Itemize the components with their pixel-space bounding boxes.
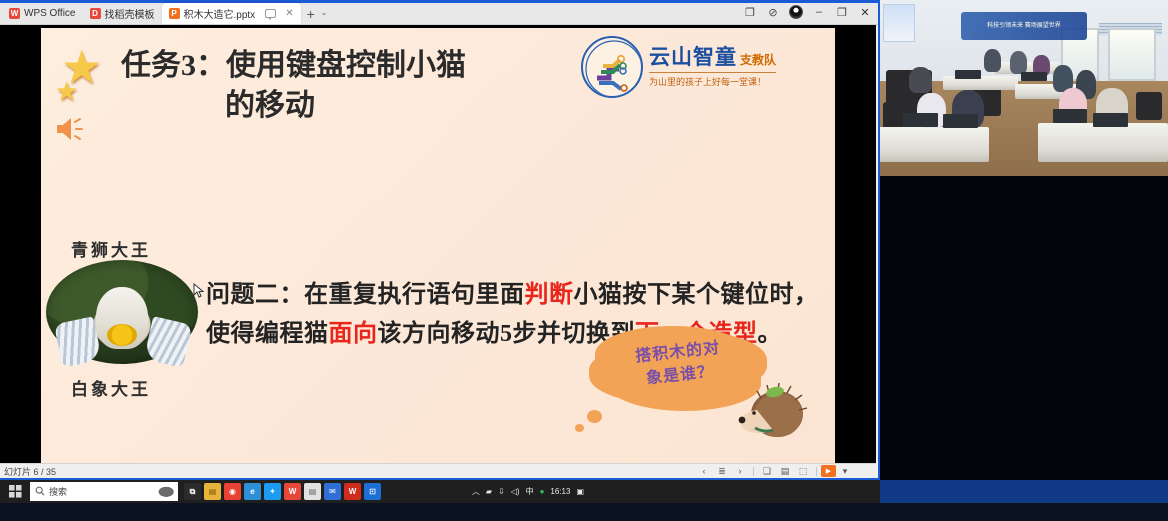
screen-share-icon[interactable]: ⊡ — [364, 483, 381, 500]
tab-presentation-file[interactable]: P 积木大造它.pptx ✕ — [162, 3, 301, 24]
taskbar-secondary-region — [880, 480, 1168, 503]
body-seg-1-highlight: 判断 — [525, 282, 574, 308]
tab-label: 找稻壳模板 — [105, 6, 155, 21]
play-slideshow-button[interactable]: ▶ — [821, 465, 836, 477]
speaker-audio-icon[interactable] — [51, 113, 87, 145]
system-tray: ︿ ▰ ⇩ ◁) 中 ● 16:13 ▣ — [472, 480, 590, 503]
start-button[interactable] — [0, 480, 30, 503]
star-small-icon: ★ — [55, 76, 78, 107]
student-figure — [909, 67, 932, 93]
slide-canvas[interactable]: ★ ★ 任务3：使用键盘控制小猫 的移动 — [41, 28, 835, 464]
student-figure — [984, 49, 1001, 72]
presentation-icon: P — [169, 8, 180, 19]
status-bar-controls: ‹ ≣ › ❏ ▤ ⬚ ▶ ▾ — [695, 465, 876, 478]
taskbar-main-region: 搜索 ⧉ ▤ ◉ e ✦ W ▤ ✉ W ⊡ ︿ ▰ ⇩ ◁) 中 ● — [0, 480, 880, 503]
slide-stage: ★ ★ 任务3：使用键盘控制小猫 的移动 — [0, 25, 876, 465]
chevron-down-icon[interactable]: ⌄ — [321, 2, 334, 24]
speech-bubble-dot-large — [587, 410, 602, 423]
title-line-2: 的移动 — [121, 86, 601, 126]
avatar-image — [789, 5, 803, 19]
title-line-1: 任务3：使用键盘控制小猫 — [121, 49, 466, 82]
body-prefix: 问题二： — [206, 282, 304, 308]
tab-docer-templates[interactable]: D 找稻壳模板 — [83, 3, 162, 24]
body-seg-4: 该方向移动5步并切换到 — [378, 321, 636, 347]
chrome-icon[interactable]: ◉ — [224, 483, 241, 500]
mail-icon[interactable]: ✉ — [324, 483, 341, 500]
slide-counter: 幻灯片 6 / 35 — [0, 465, 56, 478]
docer-icon: D — [90, 8, 101, 19]
hedgehog-character-icon — [731, 380, 807, 442]
logo-emblem-icon — [581, 36, 643, 98]
window-controls: ❐ ⊘ – ❐ ✕ — [739, 2, 876, 22]
taskbar-clock[interactable]: 16:13 — [550, 487, 570, 496]
notes-icon[interactable]: ▤ — [304, 483, 321, 500]
previous-slide-button[interactable]: ‹ — [695, 465, 713, 478]
close-button[interactable]: ✕ — [854, 2, 876, 22]
logo-text-block: 云山智童支教队 为山里的孩子上好每一堂课！ — [649, 46, 776, 87]
tab-label: 积木大造它.pptx — [184, 6, 256, 21]
comment-bubble-icon[interactable] — [265, 9, 276, 18]
classroom-video-feed[interactable]: 科技引领未来 赛场展望世界 — [880, 0, 1168, 176]
tab-label: WPS Office — [24, 8, 76, 19]
wps-logo-icon: W — [9, 8, 20, 19]
minimize-button[interactable]: – — [808, 2, 830, 22]
student-laptop — [1053, 109, 1088, 123]
body-seg-3-highlight: 面向 — [329, 321, 378, 347]
character-label-lion: 青狮大王 — [71, 236, 151, 261]
statue-bow — [107, 324, 137, 346]
tab-wps-home[interactable]: W WPS Office — [2, 3, 83, 24]
mouse-cursor-icon — [193, 283, 204, 298]
logo-brand-name: 云山智童支教队 — [649, 46, 776, 68]
character-photo-lion — [46, 260, 198, 364]
share-button[interactable]: ❐ — [739, 2, 761, 22]
character-label-elephant: 白象大王 — [71, 375, 151, 400]
student-laptop — [1021, 72, 1047, 81]
settings-button[interactable]: ⊘ — [762, 2, 784, 22]
body-seg-6: 。 — [758, 321, 783, 347]
status-bar: 幻灯片 6 / 35 ‹ ≣ › ❏ ▤ ⬚ ▶ ▾ — [0, 463, 876, 478]
twitter-icon[interactable]: ✦ — [264, 483, 281, 500]
restore-button[interactable]: ❐ — [831, 2, 853, 22]
wall-poster — [883, 4, 915, 43]
notification-icon[interactable]: ▣ — [576, 487, 584, 496]
edge-icon[interactable]: e — [244, 483, 261, 500]
search-placeholder: 搜索 — [49, 485, 67, 498]
task-view-button[interactable]: ⧉ — [184, 483, 201, 500]
user-avatar[interactable] — [785, 2, 807, 22]
screen: W WPS Office D 找稻壳模板 P 积木大造它.pptx ✕ + ⌄ … — [0, 0, 1168, 521]
divider — [816, 467, 817, 476]
body-seg-0: 在重复执行语句里面 — [304, 282, 525, 308]
search-mascot-icon — [153, 483, 175, 499]
search-input[interactable]: 搜索 — [30, 482, 178, 501]
normal-view-button[interactable]: ❏ — [758, 465, 776, 478]
reading-view-button[interactable]: ⬚ — [794, 465, 812, 478]
classroom-chair — [1136, 92, 1162, 120]
volume-icon[interactable]: ◁) — [511, 487, 520, 496]
page-title: 任务3：使用键盘控制小猫 的移动 — [121, 46, 601, 125]
organization-logo: 云山智童支教队 为山里的孩子上好每一堂课！ — [581, 32, 815, 102]
slide-sorter-button[interactable]: ▤ — [776, 465, 794, 478]
statue-robe-right — [144, 316, 193, 368]
tab-bar: W WPS Office D 找稻壳模板 P 积木大造它.pptx ✕ + ⌄ … — [0, 0, 878, 25]
classroom-desk — [1038, 123, 1168, 162]
magnifier-icon — [35, 486, 45, 498]
student-laptop — [955, 70, 981, 79]
student-laptop — [1093, 113, 1128, 127]
tab-close-icon[interactable]: ✕ — [285, 8, 293, 19]
divider — [753, 467, 754, 476]
wps-icon[interactable]: W — [284, 483, 301, 500]
taskbar-pinned-icons: ⧉ ▤ ◉ e ✦ W ▤ ✉ W ⊡ — [178, 483, 381, 500]
network-icon[interactable]: ▰ — [486, 487, 492, 496]
ime-indicator[interactable]: 中 — [526, 486, 534, 497]
speech-bubble-dot-small — [575, 424, 584, 432]
classroom-window-right — [1108, 28, 1157, 81]
new-tab-button[interactable]: + — [301, 4, 321, 24]
student-laptop — [903, 113, 938, 127]
wechat-icon[interactable]: ● — [540, 487, 545, 496]
team-text: 支教队 — [740, 53, 776, 67]
classroom-banner: 科技引领未来 赛场展望世界 — [961, 12, 1088, 40]
usb-icon[interactable]: ⇩ — [498, 487, 505, 496]
student-laptop — [943, 114, 978, 128]
tray-expand-icon[interactable]: ︿ — [472, 486, 480, 497]
play-dropdown-button[interactable]: ▾ — [836, 465, 854, 478]
wps-writer-icon[interactable]: W — [344, 483, 361, 500]
windows-taskbar: 搜索 ⧉ ▤ ◉ e ✦ W ▤ ✉ W ⊡ ︿ ▰ ⇩ ◁) 中 ● — [0, 480, 1168, 521]
classroom-desk — [880, 127, 989, 162]
file-explorer-icon[interactable]: ▤ — [204, 483, 221, 500]
statue-robe-left — [54, 317, 102, 368]
next-slide-button[interactable]: › — [731, 465, 749, 478]
wps-office-window: W WPS Office D 找稻壳模板 P 积木大造它.pptx ✕ + ⌄ … — [0, 0, 880, 480]
logo-tagline: 为山里的孩子上好每一堂课！ — [649, 72, 776, 88]
brand-text: 云山智童 — [649, 45, 737, 69]
slide-list-button[interactable]: ≣ — [713, 465, 731, 478]
student-figure — [1010, 51, 1027, 74]
